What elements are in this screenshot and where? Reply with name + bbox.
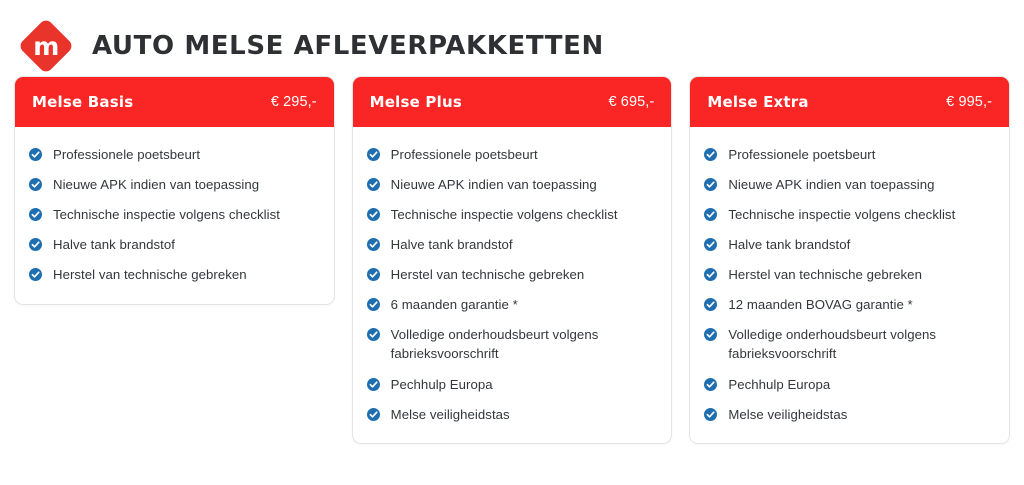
feature-item: Herstel van technische gebreken bbox=[367, 260, 658, 290]
check-circle-icon bbox=[367, 328, 380, 341]
check-circle-icon bbox=[704, 268, 717, 281]
feature-label: Professionele poetsbeurt bbox=[728, 145, 875, 164]
page-title: AUTO MELSE AFLEVERPAKKETTEN bbox=[92, 31, 604, 61]
feature-item: Volledige onderhoudsbeurt volgens fabrie… bbox=[367, 320, 658, 369]
package-price: € 995,- bbox=[946, 94, 992, 110]
feature-item: Herstel van technische gebreken bbox=[29, 260, 320, 290]
feature-item: Halve tank brandstof bbox=[704, 229, 995, 259]
feature-label: Technische inspectie volgens checklist bbox=[391, 205, 618, 224]
package-card-extra[interactable]: Melse Extra € 995,- Professionele poetsb… bbox=[689, 76, 1010, 444]
check-circle-icon bbox=[29, 178, 42, 191]
package-feature-list: Professionele poetsbeurtNieuwe APK indie… bbox=[353, 127, 672, 443]
feature-label: Pechhulp Europa bbox=[391, 375, 493, 394]
feature-label: Nieuwe APK indien van toepassing bbox=[391, 175, 597, 194]
feature-label: 6 maanden garantie * bbox=[391, 295, 518, 314]
feature-label: Melse veiligheidstas bbox=[728, 405, 847, 424]
check-circle-icon bbox=[367, 378, 380, 391]
feature-item: Professionele poetsbeurt bbox=[29, 139, 320, 169]
feature-label: Technische inspectie volgens checklist bbox=[53, 205, 280, 224]
feature-item: Nieuwe APK indien van toepassing bbox=[704, 169, 995, 199]
check-circle-icon bbox=[29, 208, 42, 221]
feature-label: Halve tank brandstof bbox=[391, 235, 513, 254]
feature-item: Professionele poetsbeurt bbox=[704, 139, 995, 169]
feature-item: Technische inspectie volgens checklist bbox=[29, 199, 320, 229]
package-name: Melse Plus bbox=[370, 93, 462, 111]
feature-item: Technische inspectie volgens checklist bbox=[367, 199, 658, 229]
feature-item: Melse veiligheidstas bbox=[367, 399, 658, 429]
melse-logo: m bbox=[18, 18, 74, 74]
feature-label: Halve tank brandstof bbox=[728, 235, 850, 254]
check-circle-icon bbox=[29, 148, 42, 161]
package-card-header: Melse Extra € 995,- bbox=[690, 77, 1009, 127]
feature-label: Pechhulp Europa bbox=[728, 375, 830, 394]
feature-item: Pechhulp Europa bbox=[367, 369, 658, 399]
feature-label: Halve tank brandstof bbox=[53, 235, 175, 254]
feature-label: Professionele poetsbeurt bbox=[53, 145, 200, 164]
feature-label: Volledige onderhoudsbeurt volgens fabrie… bbox=[391, 325, 658, 363]
check-circle-icon bbox=[29, 268, 42, 281]
feature-label: 12 maanden BOVAG garantie * bbox=[728, 295, 912, 314]
check-circle-icon bbox=[367, 408, 380, 421]
check-circle-icon bbox=[704, 298, 717, 311]
package-card-plus[interactable]: Melse Plus € 695,- Professionele poetsbe… bbox=[352, 76, 673, 444]
check-circle-icon bbox=[704, 208, 717, 221]
check-circle-icon bbox=[704, 408, 717, 421]
check-circle-icon bbox=[367, 178, 380, 191]
feature-item: Nieuwe APK indien van toepassing bbox=[29, 169, 320, 199]
package-feature-list: Professionele poetsbeurtNieuwe APK indie… bbox=[15, 127, 334, 304]
feature-item: Herstel van technische gebreken bbox=[704, 260, 995, 290]
check-circle-icon bbox=[704, 148, 717, 161]
package-price: € 695,- bbox=[609, 94, 655, 110]
feature-item: Professionele poetsbeurt bbox=[367, 139, 658, 169]
feature-item: 6 maanden garantie * bbox=[367, 290, 658, 320]
feature-item: Nieuwe APK indien van toepassing bbox=[367, 169, 658, 199]
feature-label: Herstel van technische gebreken bbox=[391, 265, 585, 284]
check-circle-icon bbox=[704, 238, 717, 251]
feature-item: Volledige onderhoudsbeurt volgens fabrie… bbox=[704, 320, 995, 369]
feature-label: Nieuwe APK indien van toepassing bbox=[53, 175, 259, 194]
package-card-header: Melse Plus € 695,- bbox=[353, 77, 672, 127]
check-circle-icon bbox=[367, 298, 380, 311]
feature-label: Melse veiligheidstas bbox=[391, 405, 510, 424]
check-circle-icon bbox=[367, 208, 380, 221]
feature-item: Technische inspectie volgens checklist bbox=[704, 199, 995, 229]
check-circle-icon bbox=[367, 238, 380, 251]
package-name: Melse Basis bbox=[32, 93, 133, 111]
package-card-basis[interactable]: Melse Basis € 295,- Professionele poetsb… bbox=[14, 76, 335, 305]
feature-item: Halve tank brandstof bbox=[367, 229, 658, 259]
logo-letter-m: m bbox=[33, 34, 59, 59]
feature-item: 12 maanden BOVAG garantie * bbox=[704, 290, 995, 320]
feature-label: Professionele poetsbeurt bbox=[391, 145, 538, 164]
page-header: m AUTO MELSE AFLEVERPAKKETTEN bbox=[0, 0, 1024, 76]
check-circle-icon bbox=[29, 238, 42, 251]
feature-item: Melse veiligheidstas bbox=[704, 399, 995, 429]
feature-item: Halve tank brandstof bbox=[29, 229, 320, 259]
package-card-header: Melse Basis € 295,- bbox=[15, 77, 334, 127]
package-cards-container: Melse Basis € 295,- Professionele poetsb… bbox=[0, 76, 1024, 444]
feature-label: Herstel van technische gebreken bbox=[728, 265, 922, 284]
check-circle-icon bbox=[367, 268, 380, 281]
check-circle-icon bbox=[704, 178, 717, 191]
feature-label: Herstel van technische gebreken bbox=[53, 265, 247, 284]
feature-label: Nieuwe APK indien van toepassing bbox=[728, 175, 934, 194]
feature-label: Volledige onderhoudsbeurt volgens fabrie… bbox=[728, 325, 995, 363]
afleverpakketten-page: m AUTO MELSE AFLEVERPAKKETTEN Melse Basi… bbox=[0, 0, 1024, 485]
feature-label: Technische inspectie volgens checklist bbox=[728, 205, 955, 224]
package-name: Melse Extra bbox=[707, 93, 808, 111]
check-circle-icon bbox=[367, 148, 380, 161]
package-feature-list: Professionele poetsbeurtNieuwe APK indie… bbox=[690, 127, 1009, 443]
check-circle-icon bbox=[704, 328, 717, 341]
package-price: € 295,- bbox=[271, 94, 317, 110]
feature-item: Pechhulp Europa bbox=[704, 369, 995, 399]
check-circle-icon bbox=[704, 378, 717, 391]
